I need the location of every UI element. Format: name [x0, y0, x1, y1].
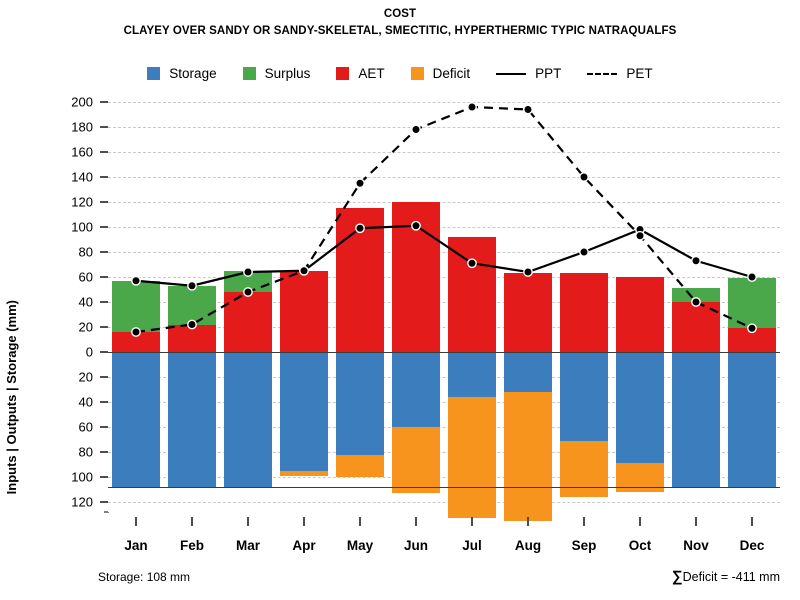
data-point-ppt[interactable] — [524, 268, 532, 276]
x-axis-tick — [527, 517, 529, 526]
data-point-ppt[interactable] — [748, 273, 756, 281]
x-axis-tick — [415, 517, 417, 526]
data-point-pet[interactable] — [748, 324, 756, 332]
plot-area: 0204060801001201401601802002040608010012… — [108, 102, 780, 512]
data-point-pet[interactable] — [188, 320, 196, 328]
data-point-ppt[interactable] — [412, 222, 420, 230]
x-axis-tick — [583, 517, 585, 526]
y-axis-tick — [100, 226, 108, 228]
y-axis-label: 20 — [38, 370, 93, 385]
y-axis-tick — [100, 476, 108, 478]
y-axis-title: Inputs | Outputs | Storage (mm) — [4, 300, 19, 494]
y-axis-tick — [100, 426, 108, 428]
data-point-pet[interactable] — [468, 103, 476, 111]
y-axis-label: 40 — [38, 295, 93, 310]
x-axis-label-aug: Aug — [515, 538, 541, 553]
x-axis-label-apr: Apr — [292, 538, 315, 553]
legend-swatch-deficit-icon — [411, 67, 424, 80]
legend-label: AET — [358, 66, 384, 81]
legend-label: Storage — [169, 66, 216, 81]
data-point-ppt[interactable] — [356, 224, 364, 232]
legend-item-aet[interactable]: AET — [336, 66, 384, 81]
y-axis-label: 180 — [38, 120, 93, 135]
legend-item-pet[interactable]: PET — [587, 66, 652, 81]
data-point-pet[interactable] — [244, 288, 252, 296]
y-axis-tick — [100, 126, 108, 128]
legend-swatch-surplus-icon — [243, 67, 256, 80]
y-axis-tick — [100, 201, 108, 203]
legend-swatch-storage-icon — [147, 67, 160, 80]
x-axis-label-sep: Sep — [572, 538, 597, 553]
y-axis-tick — [100, 326, 108, 328]
line-series-layer — [108, 102, 780, 512]
chart-legend: StorageSurplusAETDeficitPPTPET — [0, 66, 800, 81]
data-point-ppt[interactable] — [132, 277, 140, 285]
y-axis-label: 0 — [38, 345, 93, 360]
line-ppt — [136, 226, 752, 286]
y-axis-label: 80 — [38, 445, 93, 460]
data-point-pet[interactable] — [636, 232, 644, 240]
data-point-pet[interactable] — [300, 267, 308, 275]
data-point-ppt[interactable] — [188, 282, 196, 290]
x-axis-tick — [695, 517, 697, 526]
x-axis-tick — [639, 517, 641, 526]
x-axis-label-jan: Jan — [124, 538, 147, 553]
y-axis-label: 80 — [38, 245, 93, 260]
data-point-pet[interactable] — [524, 105, 532, 113]
x-axis-tick — [471, 517, 473, 526]
data-point-ppt[interactable] — [580, 248, 588, 256]
x-axis-label-jun: Jun — [404, 538, 428, 553]
x-axis-tick — [751, 517, 753, 526]
x-axis-tick — [191, 517, 193, 526]
y-axis-label: 160 — [38, 145, 93, 160]
legend-line-pet-icon — [587, 73, 617, 75]
y-axis-tick — [100, 276, 108, 278]
chart-title: COST — [0, 6, 800, 23]
legend-label: Surplus — [265, 66, 311, 81]
data-point-ppt[interactable] — [468, 259, 476, 267]
y-axis-tick — [100, 101, 108, 103]
x-axis-tick — [247, 517, 249, 526]
y-axis-label: 100 — [38, 470, 93, 485]
y-axis-tick — [100, 176, 108, 178]
y-axis-label: 60 — [38, 270, 93, 285]
storage-note: Storage: 108 mm — [98, 570, 190, 584]
data-point-pet[interactable] — [692, 298, 700, 306]
data-point-pet[interactable] — [356, 179, 364, 187]
x-axis-label-dec: Dec — [740, 538, 765, 553]
y-axis-tick — [100, 401, 108, 403]
line-pet — [136, 107, 752, 332]
y-axis-label: 100 — [38, 220, 93, 235]
y-axis-label: 120 — [38, 195, 93, 210]
y-axis-label: 200 — [38, 95, 93, 110]
data-point-pet[interactable] — [132, 328, 140, 336]
legend-swatch-aet-icon — [336, 67, 349, 80]
x-axis-label-feb: Feb — [180, 538, 204, 553]
legend-line-ppt-icon — [496, 73, 526, 75]
sigma-icon: ∑ — [672, 568, 683, 585]
y-axis-tick — [100, 251, 108, 253]
x-axis-label-jul: Jul — [462, 538, 482, 553]
y-axis-label: 40 — [38, 395, 93, 410]
x-axis-label-nov: Nov — [683, 538, 709, 553]
legend-item-deficit[interactable]: Deficit — [411, 66, 471, 81]
y-axis-label: 20 — [38, 320, 93, 335]
x-axis-tick — [135, 517, 137, 526]
x-axis-label-oct: Oct — [629, 538, 652, 553]
deficit-sum-text: Deficit = -411 mm — [683, 570, 780, 584]
y-axis-label: 60 — [38, 420, 93, 435]
data-point-ppt[interactable] — [692, 257, 700, 265]
y-axis-tick — [100, 501, 108, 503]
chart-title-block: COST CLAYEY OVER SANDY OR SANDY-SKELETAL… — [0, 6, 800, 40]
y-axis-tick — [100, 151, 108, 153]
y-axis-tick — [100, 351, 108, 353]
y-axis-tick — [100, 301, 108, 303]
y-axis-tick — [100, 451, 108, 453]
x-axis-tick — [303, 517, 305, 526]
x-axis-label-mar: Mar — [236, 538, 260, 553]
legend-item-ppt[interactable]: PPT — [496, 66, 561, 81]
data-point-pet[interactable] — [580, 173, 588, 181]
data-point-pet[interactable] — [412, 125, 420, 133]
data-point-ppt[interactable] — [244, 268, 252, 276]
legend-item-storage[interactable]: Storage — [147, 66, 216, 81]
chart-subtitle: CLAYEY OVER SANDY OR SANDY-SKELETAL, SME… — [0, 23, 800, 40]
legend-label: PET — [626, 66, 652, 81]
legend-label: PPT — [535, 66, 561, 81]
y-axis-label: 140 — [38, 170, 93, 185]
x-axis-label-may: May — [347, 538, 373, 553]
y-axis-tick — [100, 376, 108, 378]
legend-item-surplus[interactable]: Surplus — [243, 66, 311, 81]
x-axis-tick — [359, 517, 361, 526]
y-axis-label: 120 — [38, 495, 93, 510]
deficit-sum-note: ∑Deficit = -411 mm — [672, 568, 780, 585]
legend-label: Deficit — [433, 66, 471, 81]
chart-root: COST CLAYEY OVER SANDY OR SANDY-SKELETAL… — [0, 0, 800, 600]
